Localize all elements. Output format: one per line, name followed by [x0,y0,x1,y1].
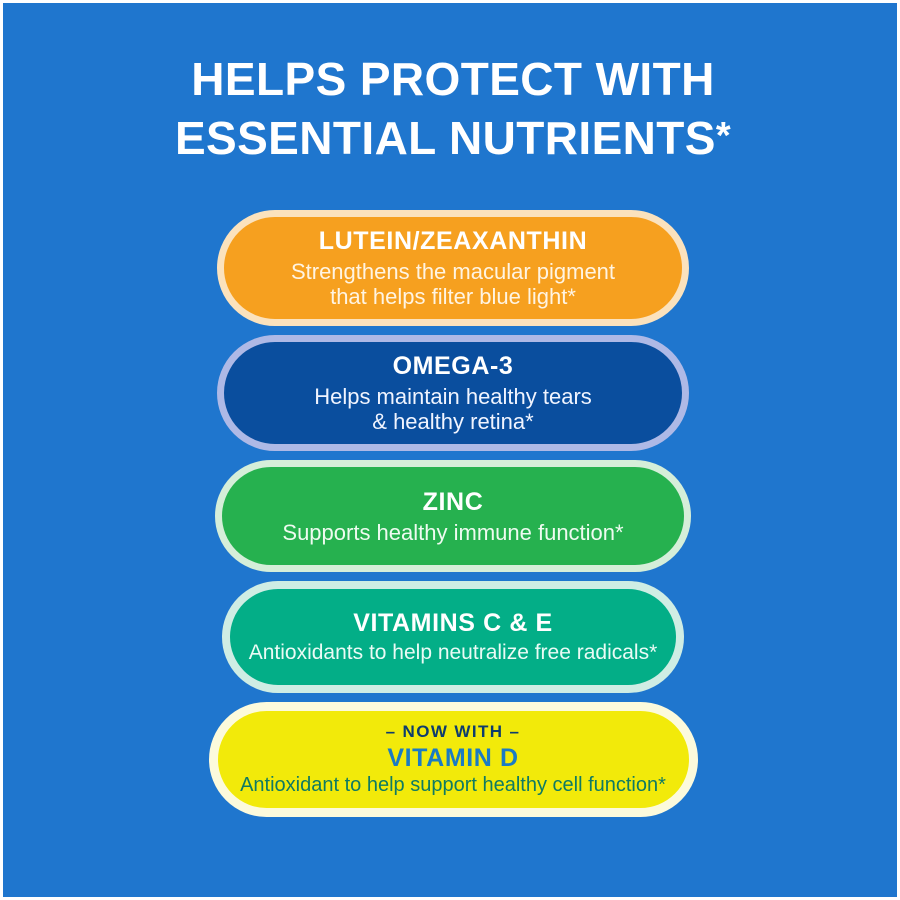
nutrient-description-line-1: Antioxidant to help support healthy cell… [240,774,666,797]
nutrient-row-vitamin-d: – NOW WITH – VITAMIN D Antioxidant to he… [3,702,900,817]
nutrient-benefits-infographic: HELPS PROTECT WITH ESSENTIAL NUTRIENTS* … [0,0,900,900]
nutrient-title-zinc: ZINC [423,488,484,517]
nutrient-description-line-1: Helps maintain healthy tears [314,384,592,409]
nutrient-title-vitamins-c-and-e: VITAMINS C & E [353,609,553,638]
nutrient-pill-zinc: ZINC Supports healthy immune function* [215,460,691,572]
page-title: HELPS PROTECT WITH ESSENTIAL NUTRIENTS* [3,51,900,167]
nutrient-title-vitamin-d: VITAMIN D [387,744,518,773]
nutrient-pill-omega-3: OMEGA-3 Helps maintain healthy tears & h… [217,335,689,451]
nutrient-eyebrow-vitamin-d: – NOW WITH – [386,722,521,742]
nutrient-description-vitamin-d: Antioxidant to help support healthy cell… [240,774,666,797]
nutrient-description-line-2: that helps filter blue light* [291,284,615,309]
nutrient-description-line-1: Strengthens the macular pigment [291,259,615,284]
headline-asterisk: * [716,115,731,157]
nutrient-description-line-1: Supports healthy immune function* [282,520,623,545]
nutrient-description-vitamins-c-and-e: Antioxidants to help neutralize free rad… [249,641,658,665]
nutrient-pill-vitamin-d: – NOW WITH – VITAMIN D Antioxidant to he… [209,702,698,817]
nutrient-description-omega-3: Helps maintain healthy tears & healthy r… [314,384,592,434]
nutrient-row-vitamins-c-and-e: VITAMINS C & E Antioxidants to help neut… [3,581,900,702]
nutrient-title-lutein-zeaxanthin: LUTEIN/ZEAXANTHIN [319,227,588,256]
nutrient-row-zinc: ZINC Supports healthy immune function* [3,460,900,581]
nutrient-description-zinc: Supports healthy immune function* [282,520,623,545]
headline-line-2: ESSENTIAL NUTRIENTS* [3,108,900,167]
nutrient-title-omega-3: OMEGA-3 [393,352,514,381]
nutrient-description-line-2: & healthy retina* [314,409,592,434]
nutrient-row-lutein-zeaxanthin: LUTEIN/ZEAXANTHIN Strengthens the macula… [3,210,900,335]
headline-line-2-text: ESSENTIAL NUTRIENTS [175,112,716,164]
nutrient-description-line-1: Antioxidants to help neutralize free rad… [249,641,658,665]
nutrient-pill-vitamins-c-and-e: VITAMINS C & E Antioxidants to help neut… [222,581,684,693]
nutrient-pill-list: LUTEIN/ZEAXANTHIN Strengthens the macula… [3,210,900,817]
nutrient-description-lutein-zeaxanthin: Strengthens the macular pigment that hel… [291,259,615,309]
nutrient-row-omega-3: OMEGA-3 Helps maintain healthy tears & h… [3,335,900,460]
headline-line-1: HELPS PROTECT WITH [3,51,900,108]
nutrient-pill-lutein-zeaxanthin: LUTEIN/ZEAXANTHIN Strengthens the macula… [217,210,689,326]
